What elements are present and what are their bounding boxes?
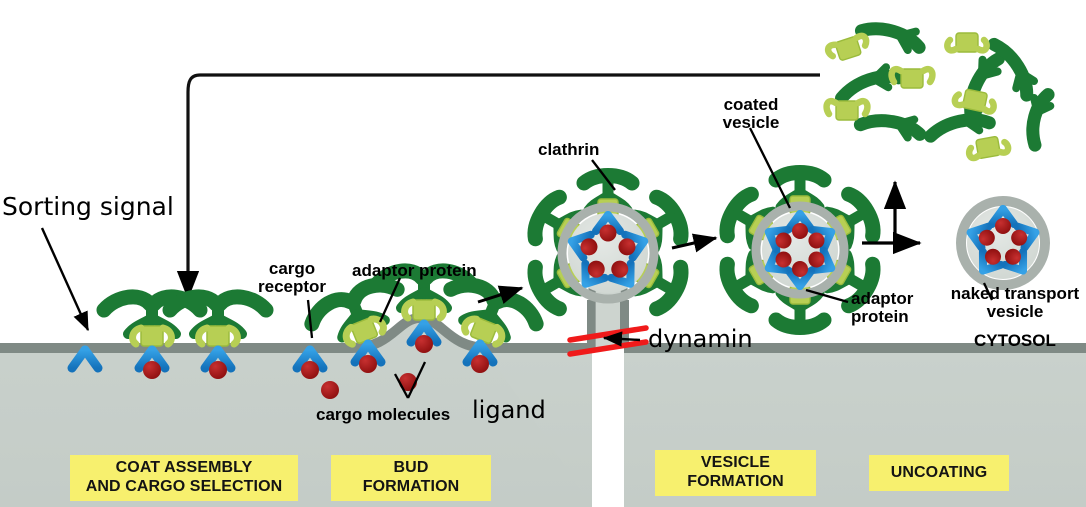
sorting-signal-pointer [42, 228, 88, 330]
coated-pit [529, 176, 687, 349]
stage-line-2: FORMATION [687, 473, 784, 490]
figure-canvas: Sorting signal cargo receptor adaptor pr… [0, 0, 1086, 507]
stage-box-bud-formation: BUD FORMATION [331, 455, 491, 501]
label-coated-vesicle: coated vesicle [706, 96, 796, 132]
free-clathrin-pool [827, 16, 1054, 161]
stage-line-1: BUD [394, 459, 429, 476]
stage-box-uncoating: UNCOATING [869, 455, 1009, 491]
stage-box-coat-assembly: COAT ASSEMBLY AND CARGO SELECTION [70, 455, 298, 501]
label-cytosol: CYTOSOL [974, 332, 1056, 350]
label-sorting-signal: Sorting signal [2, 194, 174, 220]
label-cargo-molecules: cargo molecules [316, 406, 450, 424]
label-cargo-receptor: cargo receptor [258, 260, 326, 296]
stage-line-1: UNCOATING [891, 464, 988, 483]
cargo-molecule-free [321, 381, 339, 399]
stage-box-vesicle-formation: VESICLE FORMATION [655, 450, 816, 496]
label-clathrin: clathrin [538, 141, 599, 159]
stage-line-2: AND CARGO SELECTION [86, 478, 283, 495]
label-adaptor-protein-right: adaptor protein [851, 290, 913, 326]
label-adaptor-protein-left: adaptor protein [352, 262, 477, 280]
diagram-svg [0, 0, 1086, 507]
stage-line-1: COAT ASSEMBLY [116, 459, 253, 476]
label-dynamin: dynamin [648, 327, 753, 352]
label-naked-transport-vesicle: naked transport vesicle [944, 285, 1086, 321]
stage-line-2: FORMATION [363, 478, 460, 495]
label-ligand: ligand [472, 398, 546, 423]
stage-line-1: VESICLE [701, 454, 770, 471]
